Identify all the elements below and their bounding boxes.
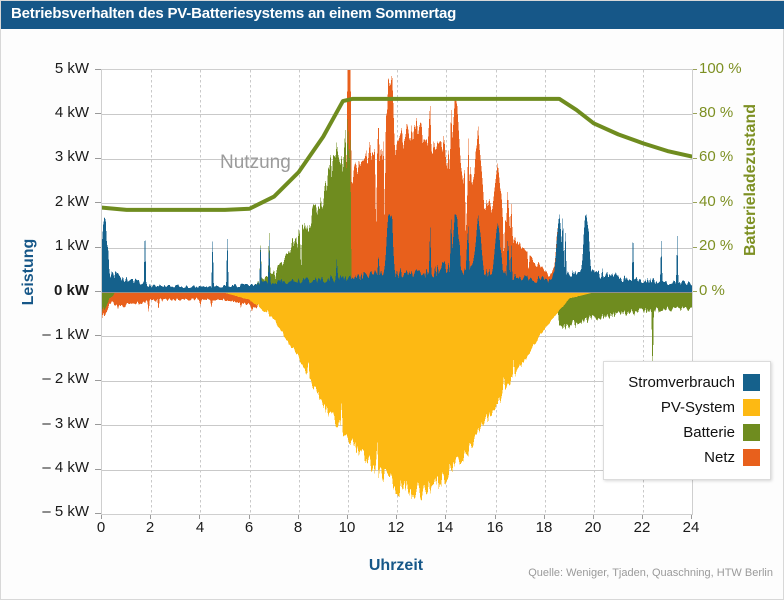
legend-label: Stromverbrauch [628, 374, 735, 391]
legend-swatch-icon [743, 424, 760, 441]
y-right-tick-3: 40 % [699, 193, 733, 210]
legend-swatch-icon [743, 399, 760, 416]
y-left-tick-2: 3 kW [55, 148, 89, 165]
legend-item-batterie[interactable]: Batterie [614, 420, 760, 445]
annotation-nutzung: Nutzung [220, 152, 291, 174]
y-left-tick-0: 5 kW [55, 60, 89, 77]
y-right-tick-4: 20 % [699, 237, 733, 254]
y-right-tick-5: 0 % [699, 282, 725, 299]
legend-item-pv-system[interactable]: PV-System [614, 395, 760, 420]
legend-item-netz[interactable]: Netz [614, 445, 760, 470]
source-credit: Quelle: Weniger, Tjaden, Quaschning, HTW… [1, 567, 773, 579]
y-left-tick-6: – 1 kW [42, 326, 89, 343]
page-title: Betriebsverhalten des PV-Batteriesystems… [11, 5, 456, 22]
y-left-tick-9: – 4 kW [42, 459, 89, 476]
y-right-tick-0: 100 % [699, 60, 742, 77]
legend-swatch-icon [743, 449, 760, 466]
legend-item-stromverbrauch[interactable]: Stromverbrauch [614, 370, 760, 395]
legend-swatch-icon [743, 374, 760, 391]
x-tick-5: 10 [327, 519, 367, 536]
y-left-tick-8: – 3 kW [42, 415, 89, 432]
y-left-tick-4: 1 kW [55, 237, 89, 254]
x-tick-8: 16 [475, 519, 515, 536]
y-left-tick-1: 4 kW [55, 104, 89, 121]
legend-label: PV-System [661, 399, 735, 416]
chart-figure: Betriebsverhalten des PV-Batteriesystems… [0, 0, 784, 600]
legend-label: Netz [704, 449, 735, 466]
y-left-tick-10: – 5 kW [42, 503, 89, 520]
y-right-tick-1: 80 % [699, 104, 733, 121]
title-bar: Betriebsverhalten des PV-Batteriesystems… [1, 1, 784, 29]
x-tick-7: 14 [425, 519, 465, 536]
y-right-tick-2: 60 % [699, 148, 733, 165]
y-left-tick-7: – 2 kW [42, 370, 89, 387]
legend: Stromverbrauch PV-System Batterie Netz [603, 361, 771, 480]
x-tick-12: 24 [671, 519, 711, 536]
x-tick-11: 22 [622, 519, 662, 536]
y-axis-right-title: Batterieladezustand [742, 80, 760, 280]
x-tick-0: 0 [81, 519, 121, 536]
y-left-tick-3: 2 kW [55, 193, 89, 210]
x-tick-2: 4 [180, 519, 220, 536]
x-tick-1: 2 [130, 519, 170, 536]
x-tick-10: 20 [573, 519, 613, 536]
zero-line [102, 292, 692, 293]
y-axis-left-title: Leistung [20, 222, 38, 322]
x-tick-6: 12 [376, 519, 416, 536]
legend-label: Batterie [683, 424, 735, 441]
x-tick-3: 6 [229, 519, 269, 536]
x-tick-9: 18 [524, 519, 564, 536]
x-tick-4: 8 [278, 519, 318, 536]
y-left-tick-5: 0 kW [54, 282, 89, 299]
